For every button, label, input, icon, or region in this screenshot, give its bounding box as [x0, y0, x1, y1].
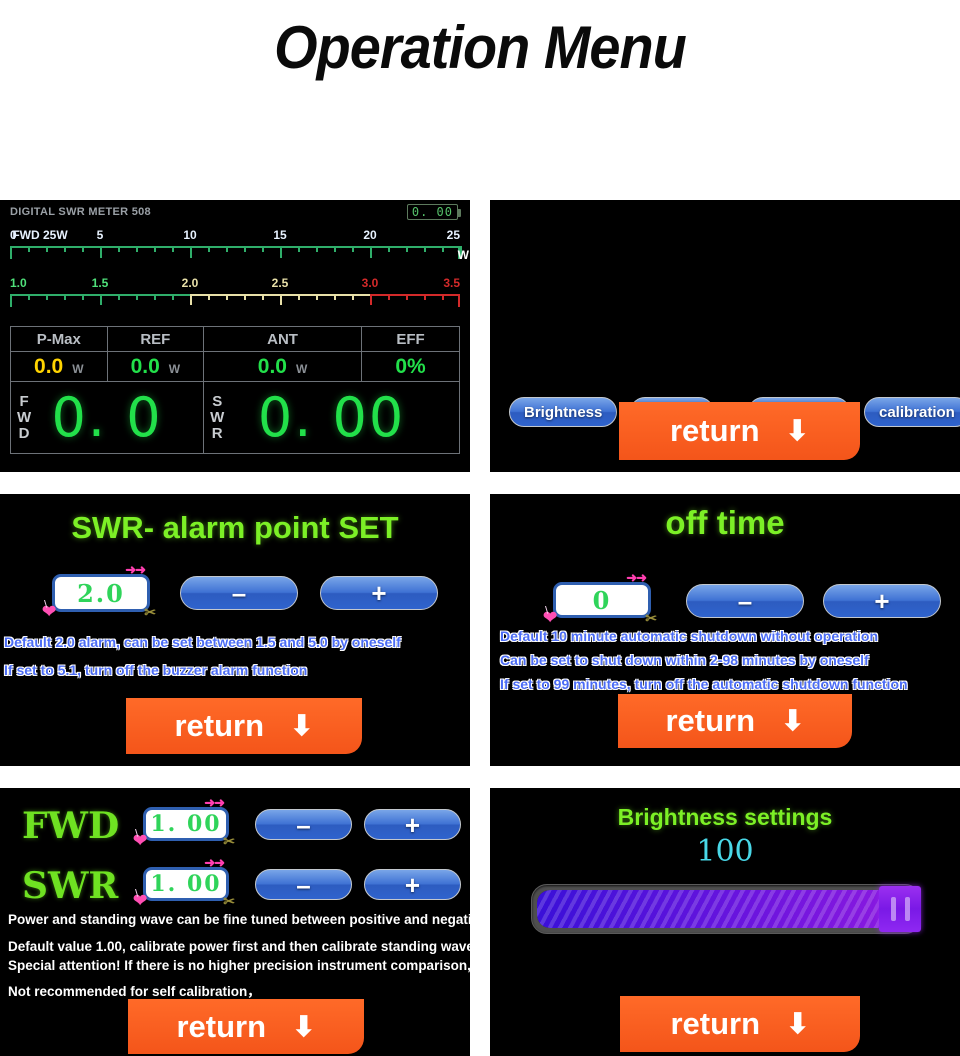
- swr-vertical-label: SWR: [210, 394, 224, 442]
- minus-icon: –: [738, 588, 752, 614]
- down-arrow-icon: ⬇: [290, 712, 313, 740]
- off-time-note-1: Default 10 minute automatic shutdown wit…: [500, 628, 878, 644]
- swr-alarm-minus-button[interactable]: –: [180, 576, 298, 610]
- calibration-note-2: Default value 1.00, calibrate power firs…: [8, 935, 470, 955]
- return-button[interactable]: return ⬇: [618, 694, 852, 748]
- down-arrow-icon: ⬇: [292, 1013, 315, 1041]
- off-time-plus-button[interactable]: +: [823, 584, 941, 618]
- menu-button-brightness[interactable]: Brightness: [509, 397, 617, 427]
- plus-icon: +: [405, 872, 420, 898]
- brightness-value: 100: [490, 834, 960, 869]
- swr-alarm-value-field[interactable]: 2.0 ➜➜ ❤ ✂: [52, 574, 150, 612]
- device-title: DIGITAL SWR METER 508: [10, 206, 462, 218]
- slider-groove: [537, 890, 915, 928]
- fwd-unit-label: W: [458, 248, 469, 262]
- off-time-minus-button[interactable]: –: [686, 584, 804, 618]
- page-title: Operation Menu: [34, 0, 927, 96]
- resize-arrows-icon: ➜➜: [204, 799, 224, 809]
- heart-cursor-icon: ❤: [133, 894, 149, 908]
- swr-scale-labels: 1.01.52.02.53.03.5: [10, 276, 460, 292]
- off-time-value-field[interactable]: 0 ➜➜ ❤ ✂: [553, 582, 651, 618]
- minus-icon: –: [296, 812, 310, 838]
- slider-thumb[interactable]: [879, 886, 921, 932]
- swr-zone: [10, 294, 190, 308]
- table-header-cell: EFF: [361, 327, 459, 352]
- off-time-note-3: If set to 99 minutes, turn off the autom…: [500, 676, 908, 692]
- fwd-tick-label: 15: [273, 228, 286, 242]
- swr-zone: [190, 294, 370, 308]
- swr-alarm-heading: SWR- alarm point SET: [0, 510, 470, 546]
- fwd-tick-label: 5: [97, 228, 104, 242]
- sparkle-icon: ✂: [223, 896, 237, 908]
- swr-alarm-note-2: If set to 5.1, turn off the buzzer alarm…: [4, 662, 307, 678]
- calibration-note-4: Not recommended for self calibration，: [8, 980, 261, 1000]
- swr-tick-label: 3.5: [443, 276, 460, 290]
- grip-line-icon: [891, 897, 896, 921]
- down-arrow-icon: ⬇: [781, 707, 804, 735]
- menu-button-calibration[interactable]: calibration: [864, 397, 960, 427]
- return-label: return: [670, 1006, 760, 1042]
- off-time-note-2: Can be set to shut down within 2-98 minu…: [500, 652, 869, 668]
- fwd-axis: [10, 246, 460, 260]
- swr-tick-label: 1.5: [92, 276, 109, 290]
- off-time-value: 0: [593, 586, 612, 615]
- swr-tick-label: 2.0: [182, 276, 199, 290]
- table-big-readout-row: FWD 0. 0 SWR 0. 00: [11, 382, 460, 454]
- return-button[interactable]: return ⬇: [128, 999, 364, 1054]
- fwd-tick-label: 25: [447, 228, 460, 242]
- return-button[interactable]: return ⬇: [126, 698, 362, 754]
- table-value-cell: 0%: [361, 352, 459, 382]
- panel-brightness-settings: Brightness settings 100 return ⬇: [490, 788, 960, 1056]
- resize-arrows-icon: ➜➜: [204, 859, 224, 869]
- fwd-power-scale: 0510152025FWD 25W W: [10, 228, 460, 272]
- table-value: 0.0: [258, 355, 287, 378]
- table-unit: W: [296, 362, 307, 376]
- table-value-cell: 0.0W: [107, 352, 204, 382]
- swr-readout-cell: SWR 0. 00: [204, 382, 460, 454]
- swr-tick-label: 3.0: [362, 276, 379, 290]
- swr-big-value: 0. 00: [258, 386, 405, 449]
- fwd-tick-label: 20: [363, 228, 376, 242]
- calibration-fwd-value: 1. 00: [150, 811, 221, 837]
- calibration-fwd-minus-button[interactable]: –: [255, 809, 352, 840]
- heart-cursor-icon: ❤: [133, 834, 149, 848]
- table-value-cell: 0.0W: [11, 352, 108, 382]
- table-header-cell: P-Max: [11, 327, 108, 352]
- panel-calibration: FWD 1. 00 ➜➜ ❤ ✂ – + SWR 1. 00 ➜➜ ❤ ✂ – …: [0, 788, 470, 1056]
- sparkle-icon: ✂: [144, 607, 158, 619]
- fwd-vertical-label: FWD: [17, 394, 31, 442]
- battery-voltage-badge: 0. 00: [407, 204, 458, 220]
- table-unit: W: [72, 362, 83, 376]
- off-time-heading: off time: [490, 504, 960, 542]
- fwd-readout-cell: FWD 0. 0: [11, 382, 204, 454]
- plus-icon: +: [405, 812, 420, 838]
- table-unit: W: [169, 362, 180, 376]
- return-label: return: [174, 708, 264, 744]
- table-value-row: 0.0W0.0W0.0W0%: [11, 352, 460, 382]
- table-value: 0.0: [34, 355, 63, 378]
- fwd-scale-inline-label: FWD 25W: [12, 228, 67, 242]
- down-arrow-icon: ⬇: [786, 417, 809, 445]
- fwd-big-value: 0. 0: [52, 386, 163, 449]
- table-value: 0%: [395, 355, 425, 378]
- calibration-fwd-value-field[interactable]: 1. 00 ➜➜ ❤ ✂: [143, 807, 229, 841]
- calibration-swr-plus-button[interactable]: +: [364, 869, 461, 900]
- calibration-swr-value-field[interactable]: 1. 00 ➜➜ ❤ ✂: [143, 867, 229, 901]
- swr-zone: [370, 294, 460, 308]
- table-header-row: P-MaxREFANTEFF: [11, 327, 460, 352]
- resize-arrows-icon: ➜➜: [125, 566, 145, 576]
- resize-arrows-icon: ➜➜: [626, 574, 646, 584]
- heart-cursor-icon: ❤: [543, 611, 559, 625]
- swr-scale-ruler: [10, 294, 460, 310]
- panel-off-time: off time 0 ➜➜ ❤ ✂ – + Default 10 minute …: [490, 494, 960, 766]
- minus-icon: –: [296, 872, 310, 898]
- sparkle-icon: ✂: [223, 836, 237, 848]
- slider-fill: [537, 890, 915, 928]
- calibration-row-label-fwd: FWD: [22, 805, 119, 847]
- plus-icon: +: [874, 588, 889, 614]
- return-button[interactable]: return ⬇: [619, 402, 860, 460]
- calibration-row-label-swr: SWR: [22, 865, 118, 907]
- calibration-fwd-plus-button[interactable]: +: [364, 809, 461, 840]
- fwd-tick-label: 10: [183, 228, 196, 242]
- panel-swr-alarm-set: SWR- alarm point SET 2.0 ➜➜ ❤ ✂ – + Defa…: [0, 494, 470, 766]
- swr-tick-label: 1.0: [10, 276, 27, 290]
- fwd-scale-labels: 0510152025FWD 25W: [10, 228, 460, 244]
- return-label: return: [176, 1009, 266, 1045]
- return-label: return: [670, 413, 760, 449]
- table-value: 0.0: [131, 355, 160, 378]
- return-button[interactable]: return ⬇: [620, 996, 860, 1052]
- meter-header: DIGITAL SWR METER 508 0. 00: [0, 200, 470, 226]
- meter-readout-table: P-MaxREFANTEFF 0.0W0.0W0.0W0% FWD 0. 0 S…: [10, 326, 460, 454]
- fwd-scale-ruler: W: [10, 246, 460, 262]
- grip-line-icon: [905, 897, 910, 921]
- table-value-cell: 0.0W: [204, 352, 362, 382]
- return-label: return: [665, 703, 755, 739]
- calibration-swr-value: 1. 00: [150, 871, 221, 897]
- down-arrow-icon: ⬇: [786, 1010, 809, 1038]
- swr-alarm-plus-button[interactable]: +: [320, 576, 438, 610]
- table-header-cell: ANT: [204, 327, 362, 352]
- plus-icon: +: [371, 580, 386, 606]
- sparkle-icon: ✂: [645, 613, 659, 625]
- calibration-swr-minus-button[interactable]: –: [255, 869, 352, 900]
- swr-scale: 1.01.52.02.53.03.5: [10, 276, 460, 320]
- swr-tick-label: 2.5: [272, 276, 289, 290]
- table-header-cell: REF: [107, 327, 204, 352]
- calibration-note-1: Power and standing wave can be fine tune…: [8, 912, 470, 927]
- brightness-slider[interactable]: [531, 884, 921, 934]
- swr-alarm-value: 2.0: [77, 579, 125, 608]
- heart-cursor-icon: ❤: [42, 605, 58, 619]
- minus-icon: –: [232, 580, 246, 606]
- swr-alarm-note-1: Default 2.0 alarm, can be set between 1.…: [4, 634, 401, 650]
- panel-operation-menu: Brightnessoff timeSWR-ALMcalibration ret…: [490, 200, 960, 472]
- panel-swr-meter: DIGITAL SWR METER 508 0. 00 0510152025FW…: [0, 200, 470, 472]
- brightness-heading: Brightness settings: [490, 804, 960, 831]
- calibration-note-3: Special attention! If there is no higher…: [8, 958, 470, 973]
